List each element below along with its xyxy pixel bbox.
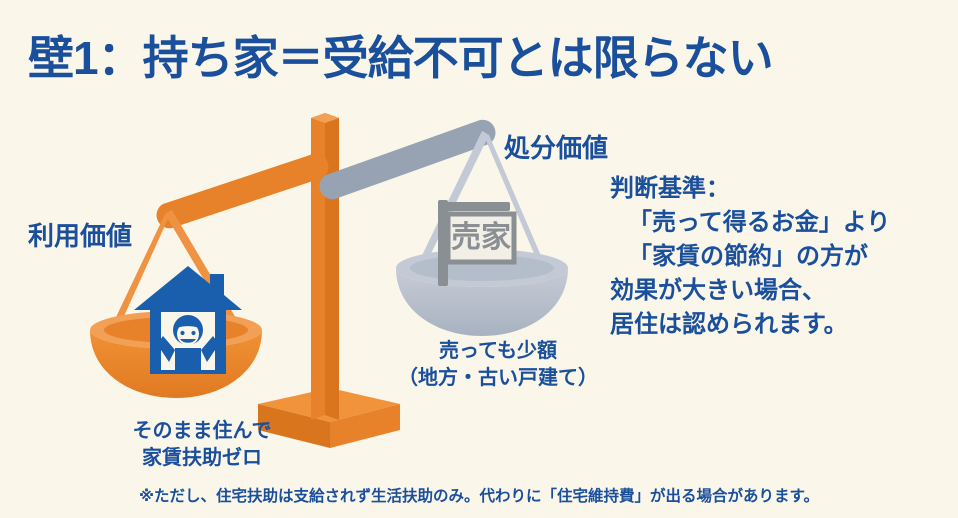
label-disposal-value: 処分価値 <box>504 128 608 165</box>
criteria-heading: 判断基準： <box>610 172 958 206</box>
left-caption-line-2: 家賃扶助ゼロ <box>82 445 322 472</box>
house-with-person-icon <box>128 262 248 378</box>
scale-beam-left <box>157 154 329 228</box>
right-caption-line-1: 売っても少額 <box>380 338 616 365</box>
sign-text: 売家 <box>451 221 511 254</box>
right-pan-caption: 売っても少額 （地方・古い戸建て） <box>380 338 616 392</box>
left-caption-line-1: そのまま住んで <box>82 418 322 445</box>
criteria-line-2: 「家賃の節約」の方が <box>610 240 958 274</box>
criteria-line-3: 効果が大きい場合、 <box>610 274 958 308</box>
criteria-line-4: 居住は認められます。 <box>610 308 958 342</box>
left-pan-caption: そのまま住んで 家賃扶助ゼロ <box>82 418 322 472</box>
footnote: ※ただし、住宅扶助は支給されず生活扶助のみ。代わりに「住宅維持費」が出る場合があ… <box>0 484 958 506</box>
slide-canvas: 壁1：持ち家＝受給不可とは限らない <box>0 0 958 518</box>
label-use-value: 利用価値 <box>28 216 132 253</box>
criteria-line-1: 「売って得るお金」より <box>610 206 958 240</box>
for-sale-sign-icon: 売家 <box>424 184 532 292</box>
criteria-text-block: 判断基準： 「売って得るお金」より 「家賃の節約」の方が 効果が大きい場合、 居… <box>610 172 958 342</box>
right-caption-line-2: （地方・古い戸建て） <box>380 365 616 392</box>
